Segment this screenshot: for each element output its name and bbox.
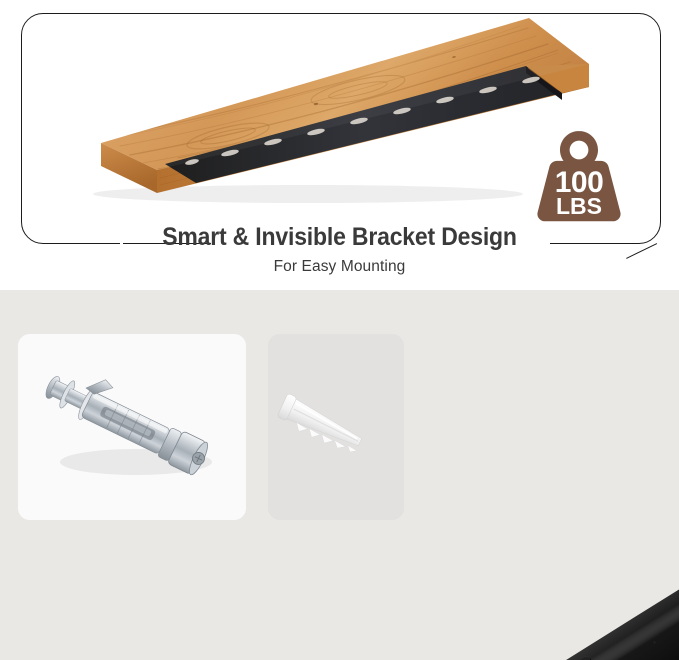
top-feature-panel: 100 LBS Smart & Invisible Bracket Design… xyxy=(0,0,679,290)
plastic-anchor-panel xyxy=(268,334,404,520)
iron-pipe-image xyxy=(388,580,679,660)
metal-anchor-panel xyxy=(18,334,246,520)
weight-unit: LBS xyxy=(556,193,602,219)
wood-board xyxy=(58,8,598,213)
headline: Smart & Invisible Bracket Design xyxy=(27,222,652,252)
subheadline: For Easy Mounting xyxy=(0,258,679,276)
shelf-product-image xyxy=(58,8,598,213)
weight-capacity-badge: 100 LBS xyxy=(532,128,626,224)
feature-infographic: 100 LBS Smart & Invisible Bracket Design… xyxy=(0,0,679,660)
bottom-feature-panel: Upgrade Metal Anchors heavy-duty xyxy=(0,290,679,660)
